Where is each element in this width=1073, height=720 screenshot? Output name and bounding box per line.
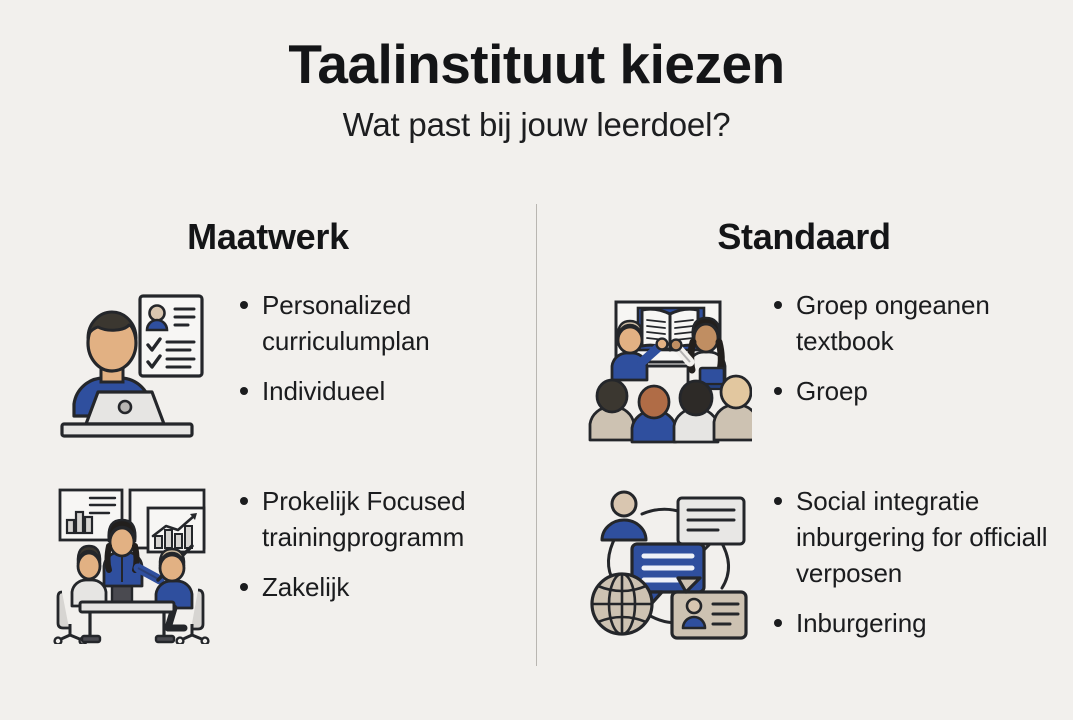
business-meeting-presentation-icon xyxy=(52,484,218,644)
social-integration-network-icon xyxy=(586,484,752,644)
feature-block-personalized: Personalized curriculumplan Individueel xyxy=(0,288,536,448)
bullet-list: Personalized curriculumplan Individueel xyxy=(218,288,536,410)
list-item: Inburgering xyxy=(774,606,1072,642)
bullet-list: Social integratie inburgering for offici… xyxy=(752,484,1072,642)
feature-block-inburgering: Social integratie inburgering for offici… xyxy=(536,484,1072,644)
page-title: Taalinstituut kiezen xyxy=(0,36,1073,94)
classroom-group-lesson-icon xyxy=(586,288,752,448)
list-item: Individueel xyxy=(240,374,536,410)
bullet-list: Groep ongeanen textbook Groep xyxy=(752,288,1072,410)
bullet-list: Prokelijk Focused trainingprogramm Zakel… xyxy=(218,484,536,606)
header: Taalinstituut kiezen Wat past bij jouw l… xyxy=(0,36,1073,144)
list-item: Groep ongeanen textbook xyxy=(774,288,1072,360)
list-item: Groep xyxy=(774,374,1072,410)
column-maatwerk: Maatwerk xyxy=(0,196,536,696)
column-heading-standaard: Standaard xyxy=(536,196,1072,258)
list-item: Social integratie inburgering for offici… xyxy=(774,484,1072,592)
feature-block-zakelijk: Prokelijk Focused trainingprogramm Zakel… xyxy=(0,484,536,644)
person-at-laptop-with-checklist-icon xyxy=(52,288,218,448)
page-subtitle: Wat past bij jouw leerdoel? xyxy=(0,106,1073,144)
column-standaard: Standaard xyxy=(536,196,1072,696)
list-item: Zakelijk xyxy=(240,570,536,606)
feature-block-groep: Groep ongeanen textbook Groep xyxy=(536,288,1072,448)
comparison-columns: Maatwerk xyxy=(0,196,1073,696)
list-item: Prokelijk Focused trainingprogramm xyxy=(240,484,536,556)
list-item: Personalized curriculumplan xyxy=(240,288,536,360)
infographic-canvas: Taalinstituut kiezen Wat past bij jouw l… xyxy=(0,0,1073,720)
column-heading-maatwerk: Maatwerk xyxy=(0,196,536,258)
